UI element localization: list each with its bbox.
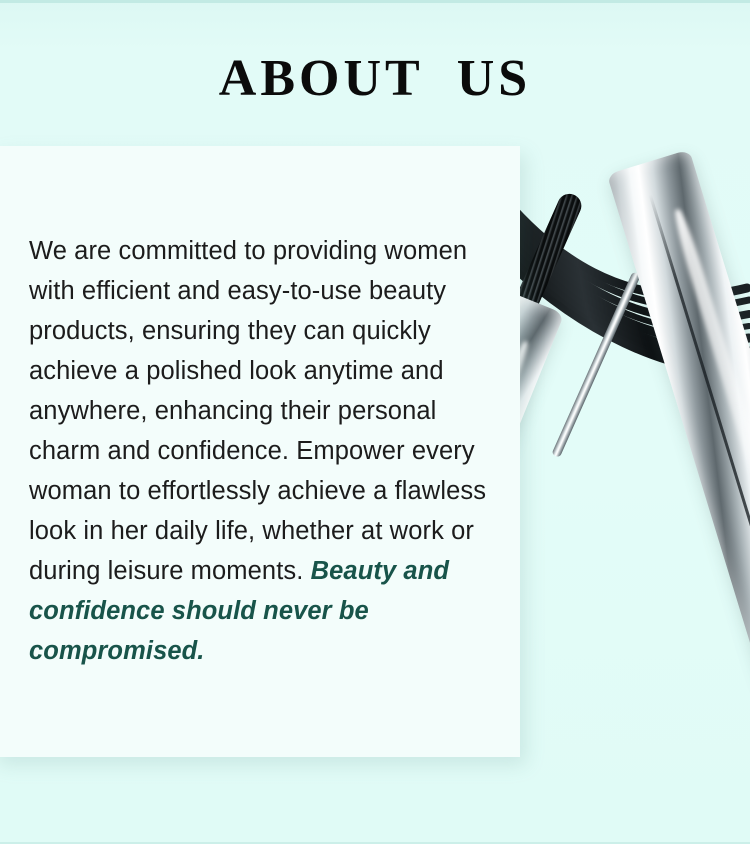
top-edge-rule: [0, 0, 750, 3]
about-text-card: We are committed to providing women with…: [0, 146, 520, 757]
about-paragraph: We are committed to providing women with…: [29, 231, 509, 671]
about-paragraph-text: We are committed to providing women with…: [29, 237, 486, 585]
about-us-page: ABOUT US: [0, 0, 750, 844]
page-title: ABOUT US: [0, 50, 750, 108]
